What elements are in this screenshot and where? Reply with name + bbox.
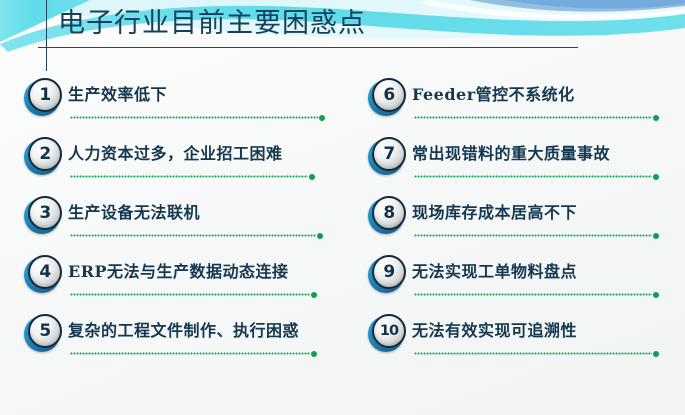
- list-item[interactable]: 4 ERP无法与生产数据动态连接: [18, 253, 348, 312]
- list-item-label: 无法实现工单物料盘点: [412, 261, 577, 283]
- badge-number: 10: [380, 324, 398, 339]
- badge-ring: 10: [372, 314, 406, 348]
- badge-ring: 9: [372, 255, 406, 289]
- list-item-label: 生产效率低下: [68, 84, 167, 106]
- leader-dots: [414, 116, 652, 119]
- dotted-leader: [70, 234, 323, 237]
- list-item-label: 现场库存成本居高不下: [412, 202, 577, 224]
- number-badge: 7: [368, 137, 406, 175]
- bullet-column-right: 6 Feeder管控不系统化 7 常出现错料的重大质量事故: [362, 76, 685, 371]
- number-badge: 10: [368, 314, 406, 352]
- list-item-label: 常出现错料的重大质量事故: [412, 143, 610, 165]
- badge-number: 1: [39, 87, 50, 104]
- list-item[interactable]: 7 常出现错料的重大质量事故: [362, 135, 685, 194]
- leader-dots: [414, 234, 652, 237]
- number-badge: 2: [24, 137, 62, 175]
- title-vertical-rule: [46, 0, 47, 71]
- list-item[interactable]: 8 现场库存成本居高不下: [362, 194, 685, 253]
- leader-end-dot: [311, 292, 317, 298]
- list-item-label: 无法有效实现可追溯性: [412, 320, 577, 342]
- leader-dots: [70, 116, 318, 119]
- list-item[interactable]: 5 复杂的工程文件制作、执行困惑: [18, 312, 348, 371]
- leader-dots: [70, 175, 308, 178]
- leader-dots: [70, 293, 310, 296]
- list-item-label: 生产设备无法联机: [68, 202, 200, 224]
- badge-ring: 5: [28, 314, 62, 348]
- badge-ring: 8: [372, 196, 406, 230]
- leader-end-dot: [319, 115, 325, 121]
- leader-end-dot: [317, 233, 323, 239]
- title-block: 电子行业目前主要困惑点: [0, 0, 685, 72]
- leader-end-dot: [653, 292, 659, 298]
- badge-ring: 2: [28, 137, 62, 171]
- list-item[interactable]: 3 生产设备无法联机: [18, 194, 348, 253]
- list-item[interactable]: 2 人力资本过多，企业招工困难: [18, 135, 348, 194]
- list-item[interactable]: 1 生产效率低下: [18, 76, 348, 135]
- badge-ring: 6: [372, 78, 406, 112]
- bullet-column-left: 1 生产效率低下 2 人力资本过多，企业招工困难: [18, 76, 348, 371]
- dotted-leader: [70, 352, 317, 355]
- list-item-label: Feeder管控不系统化: [412, 84, 575, 106]
- badge-number: 4: [39, 264, 50, 281]
- badge-number: 8: [383, 205, 394, 222]
- badge-ring: 3: [28, 196, 62, 230]
- number-badge: 9: [368, 255, 406, 293]
- leader-dots: [414, 352, 652, 355]
- dotted-leader: [414, 293, 659, 296]
- list-item-label: ERP无法与生产数据动态连接: [68, 261, 289, 283]
- number-badge: 1: [24, 78, 62, 116]
- badge-number: 9: [383, 264, 394, 281]
- slide-canvas: 电子行业目前主要困惑点 1 生产效率低下 2 人力资本: [0, 0, 685, 415]
- page-title: 电子行业目前主要困惑点: [58, 7, 366, 41]
- number-badge: 4: [24, 255, 62, 293]
- list-item[interactable]: 10 无法有效实现可追溯性: [362, 312, 685, 371]
- badge-ring: 1: [28, 78, 62, 112]
- list-item[interactable]: 9 无法实现工单物料盘点: [362, 253, 685, 312]
- dotted-leader: [414, 175, 659, 178]
- dotted-leader: [414, 352, 659, 355]
- list-item[interactable]: 6 Feeder管控不系统化: [362, 76, 685, 135]
- badge-number: 6: [383, 87, 394, 104]
- badge-ring: 4: [28, 255, 62, 289]
- dotted-leader: [70, 175, 315, 178]
- leader-end-dot: [311, 351, 317, 357]
- leader-end-dot: [309, 174, 315, 180]
- leader-end-dot: [653, 351, 659, 357]
- title-underline-rule: [38, 47, 578, 48]
- number-badge: 8: [368, 196, 406, 234]
- number-badge: 3: [24, 196, 62, 234]
- dotted-leader: [414, 234, 659, 237]
- list-item-label: 复杂的工程文件制作、执行困惑: [68, 320, 299, 342]
- list-item-label: 人力资本过多，企业招工困难: [68, 143, 283, 165]
- leader-end-dot: [653, 174, 659, 180]
- dotted-leader: [414, 116, 659, 119]
- leader-dots: [414, 293, 652, 296]
- badge-number: 3: [39, 205, 50, 222]
- number-badge: 5: [24, 314, 62, 352]
- leader-end-dot: [653, 233, 659, 239]
- dotted-leader: [70, 116, 325, 119]
- dotted-leader: [70, 293, 317, 296]
- badge-number: 5: [39, 323, 50, 340]
- badge-ring: 7: [372, 137, 406, 171]
- leader-end-dot: [653, 115, 659, 121]
- leader-dots: [414, 175, 652, 178]
- badge-number: 7: [383, 146, 394, 163]
- leader-dots: [70, 352, 310, 355]
- badge-number: 2: [39, 146, 50, 163]
- leader-dots: [70, 234, 316, 237]
- number-badge: 6: [368, 78, 406, 116]
